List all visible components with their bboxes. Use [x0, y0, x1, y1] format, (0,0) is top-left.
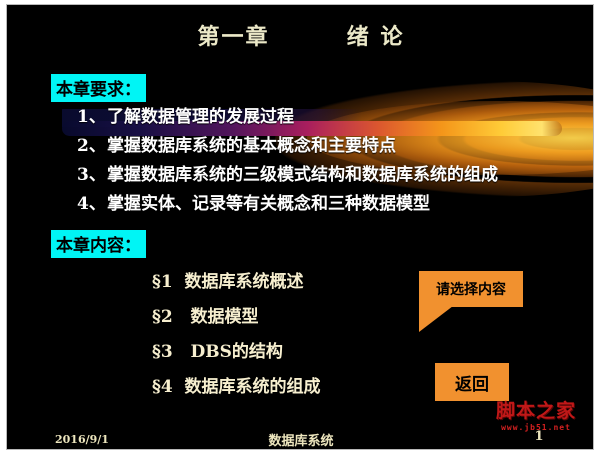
- list-item-label: 掌握数据库系统的基本概念和主要特点: [107, 136, 396, 156]
- speech-bubble-tail-icon: [419, 306, 453, 332]
- toc-item-2[interactable]: §2 数据模型: [152, 300, 452, 335]
- list-item-number: 4、: [77, 190, 107, 219]
- list-item-label: 了解数据管理的发展过程: [107, 107, 294, 127]
- contents-list: §1 数据库系统概述 §2 数据模型 §3 DBS的结构 §4 数据库系统的组成: [152, 265, 452, 405]
- speech-bubble-callout: 请选择内容: [419, 271, 523, 307]
- list-item-number: 2、: [77, 132, 107, 161]
- list-item: 1、了解数据管理的发展过程: [77, 103, 592, 132]
- list-item: 4、掌握实体、记录等有关概念和三种数据模型: [77, 190, 592, 219]
- toc-item-3[interactable]: §3 DBS的结构: [152, 335, 452, 370]
- list-item-label: 掌握实体、记录等有关概念和三种数据模型: [107, 194, 430, 214]
- list-item-number: 3、: [77, 161, 107, 190]
- footer-title: 数据库系统: [7, 430, 594, 449]
- toc-item-4[interactable]: §4 数据库系统的组成: [152, 370, 452, 405]
- footer-page-number: 1: [527, 429, 551, 444]
- slide-title: 第一章 绪 论: [7, 19, 594, 51]
- slide-canvas: 第一章 绪 论 本章要求： 1、了解数据管理的发展过程 2、掌握数据库系统的基本…: [6, 4, 594, 450]
- return-button[interactable]: 返回: [435, 363, 509, 401]
- list-item: 2、掌握数据库系统的基本概念和主要特点: [77, 132, 592, 161]
- list-item-label: 掌握数据库系统的三级模式结构和数据库系统的组成: [107, 165, 498, 185]
- list-item-number: 1、: [77, 103, 107, 132]
- toc-item-1[interactable]: §1 数据库系统概述: [152, 265, 452, 300]
- list-item: 3、掌握数据库系统的三级模式结构和数据库系统的组成: [77, 161, 592, 190]
- watermark-brand: 脚本之家: [486, 401, 586, 422]
- requirements-list: 1、了解数据管理的发展过程 2、掌握数据库系统的基本概念和主要特点 3、掌握数据…: [77, 103, 592, 219]
- section-label-contents: 本章内容：: [51, 230, 146, 258]
- section-label-requirements: 本章要求：: [51, 74, 146, 102]
